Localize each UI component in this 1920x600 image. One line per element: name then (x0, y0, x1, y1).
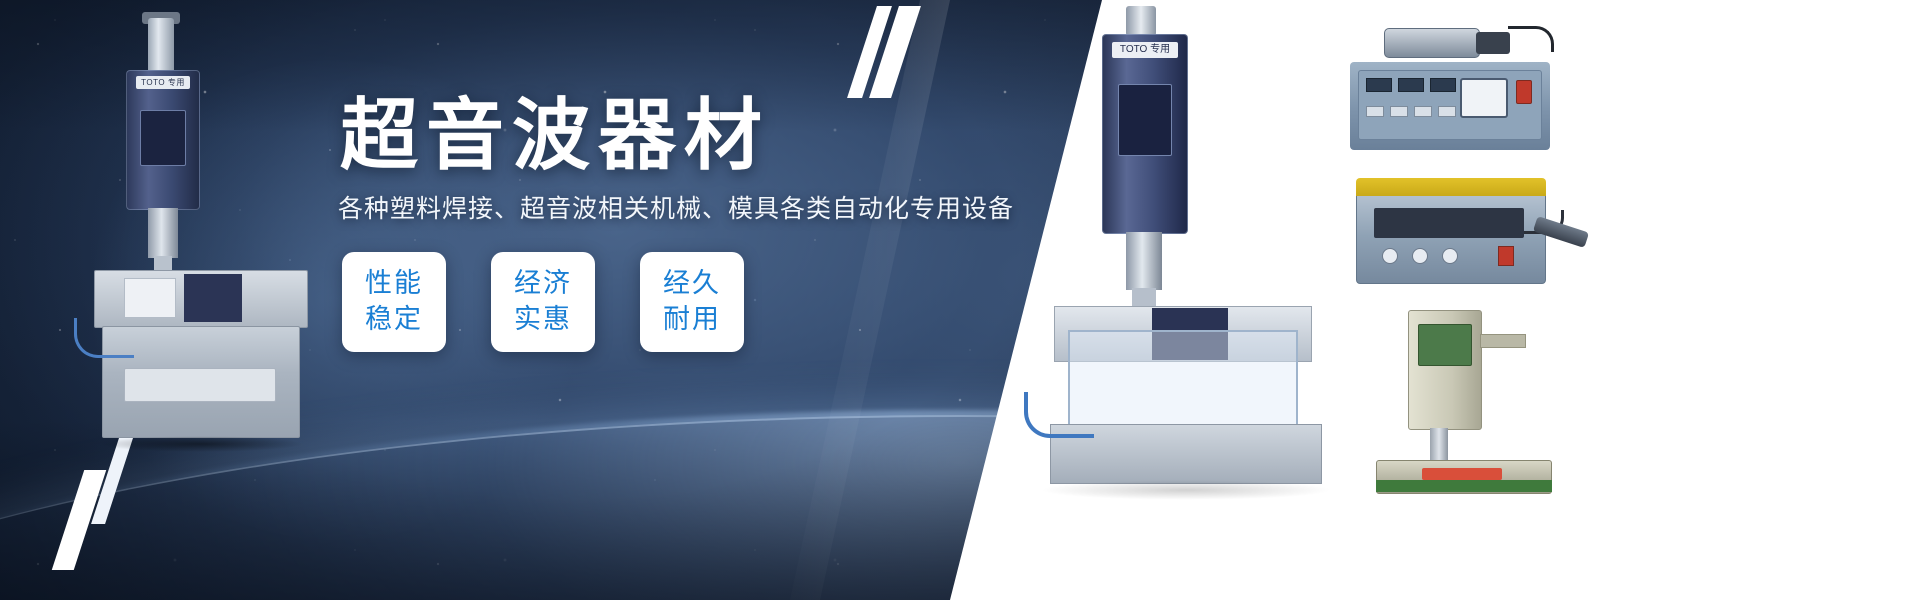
feature-badge-durable[interactable]: 经久 耐用 (640, 252, 744, 352)
generator-analog-meter (1460, 78, 1508, 118)
page-title: 超音波器材 (340, 96, 1016, 174)
welder-knob (1442, 248, 1458, 264)
generator-button (1390, 106, 1408, 117)
welder-arm (1480, 334, 1526, 348)
page-subtitle: 各种塑料焊接、超音波相关机械、模具各类自动化专用设备 (338, 194, 1016, 224)
badge-line-2: 稳定 (365, 302, 423, 338)
generator-button (1414, 106, 1432, 117)
machine-cable (1024, 392, 1094, 438)
generator-power-switch (1516, 80, 1532, 104)
transducer-cap (1476, 32, 1510, 54)
welder-yellow-lid (1356, 178, 1546, 196)
welder-base-stripe (1376, 480, 1552, 492)
badge-line-2: 实惠 (514, 302, 572, 338)
generator-button (1438, 106, 1456, 117)
machine-control-screen (140, 110, 186, 166)
welder-warning-tag (1422, 468, 1502, 480)
welder-rod (1430, 428, 1448, 462)
machine-horn (1126, 232, 1162, 290)
machine-brand-label: TOTO 专用 (1112, 42, 1178, 58)
machine-shadow (1040, 480, 1332, 500)
right-welding-machine-image: TOTO 专用 (1040, 0, 1340, 520)
badge-line-2: 耐用 (663, 302, 721, 338)
machine-column (148, 18, 174, 76)
product-handheld-welder-image (1348, 166, 1588, 294)
promotional-banner: TOTO 专用 超音波器材 各种塑料焊接、超音波相关机械、模具各类自动化专用设备… (0, 0, 1920, 600)
badge-line-1: 性能 (365, 266, 423, 302)
machine-column (1126, 6, 1156, 36)
machine-shadow (98, 436, 304, 452)
machine-control-screen (1118, 84, 1172, 156)
product-generator-image (1340, 24, 1570, 154)
welder-dark-panel (1374, 208, 1524, 238)
machine-safety-guard (1068, 330, 1298, 434)
product-tall-welder-image (1368, 310, 1568, 500)
machine-cable (74, 318, 134, 358)
feature-badge-group: 性能 稳定 经济 实惠 经久 耐用 (342, 252, 1016, 352)
transducer-cable (1508, 26, 1554, 52)
welder-control-panel (1418, 324, 1472, 366)
machine-brand-label: TOTO 专用 (136, 76, 190, 89)
banner-copy: 超音波器材 各种塑料焊接、超音波相关机械、模具各类自动化专用设备 性能 稳定 经… (336, 96, 1016, 352)
generator-display (1366, 78, 1392, 92)
left-welding-machine-image: TOTO 专用 (88, 18, 336, 438)
generator-display (1398, 78, 1424, 92)
machine-horn-tip (1132, 288, 1156, 308)
generator-button (1366, 106, 1384, 117)
generator-display (1430, 78, 1456, 92)
welder-knob (1412, 248, 1428, 264)
badge-line-1: 经济 (514, 266, 572, 302)
welder-power-switch (1498, 246, 1514, 266)
feature-badge-economical[interactable]: 经济 实惠 (491, 252, 595, 352)
feature-badge-performance[interactable]: 性能 稳定 (342, 252, 446, 352)
badge-line-1: 经久 (663, 266, 721, 302)
machine-horn (148, 208, 178, 258)
ultrasonic-transducer (1384, 28, 1480, 58)
machine-drawer (124, 368, 276, 402)
machine-dark-fixture (184, 274, 242, 322)
machine-fixture (124, 278, 176, 318)
welder-knob (1382, 248, 1398, 264)
